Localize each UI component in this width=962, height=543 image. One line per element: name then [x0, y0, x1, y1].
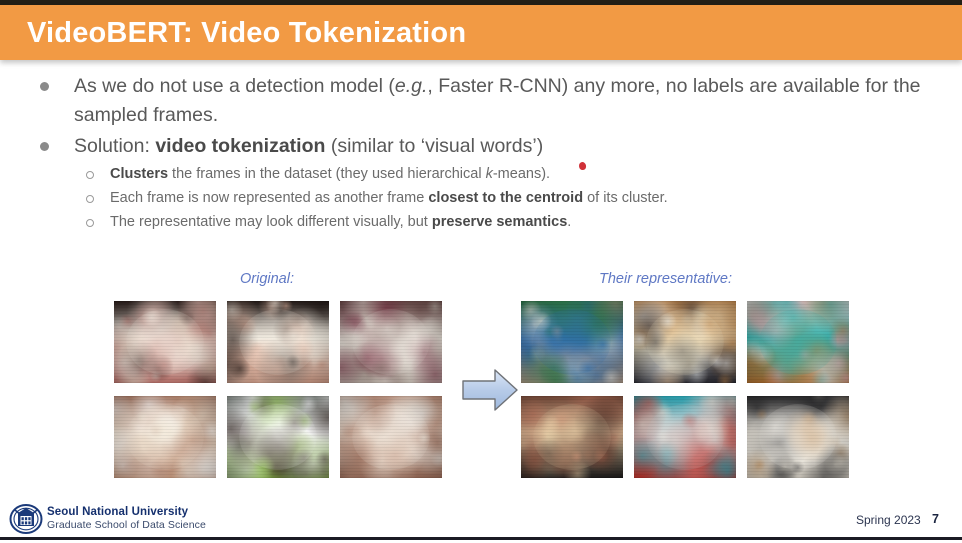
footer-divider [0, 537, 962, 540]
bullet-circle-icon [86, 195, 94, 203]
video-frame-thumbnail [747, 396, 849, 478]
university-name: Seoul National University [47, 506, 188, 518]
slide-title-bar: VideoBERT: Video Tokenization [0, 5, 962, 60]
video-frame-thumbnail [634, 301, 736, 383]
sub-bullet-item-3: The representative may look different vi… [0, 211, 962, 234]
frame-image [114, 301, 216, 383]
page-title: VideoBERT: Video Tokenization [27, 17, 466, 50]
frame-image [340, 301, 442, 383]
bullet-text: As we do not use a detection model (e.g.… [74, 72, 944, 130]
bullet-disc-icon [40, 142, 49, 151]
video-frame-thumbnail [340, 396, 442, 478]
video-frame-thumbnail [227, 396, 329, 478]
video-frame-thumbnail [227, 301, 329, 383]
frame-image [634, 301, 736, 383]
slide: VideoBERT: Video Tokenization As we do n… [0, 0, 962, 543]
frame-image [340, 396, 442, 478]
bullet-list: As we do not use a detection model (e.g.… [0, 72, 962, 235]
page-number: 7 [932, 512, 939, 526]
sub-bullet-item-1: Clusters the frames in the dataset (they… [0, 163, 962, 186]
representative-caption: Their representative: [599, 271, 732, 287]
video-frame-thumbnail [114, 396, 216, 478]
bullet-item-2: Solution: video tokenization (similar to… [0, 132, 962, 161]
original-caption: Original: [240, 271, 294, 287]
bullet-circle-icon [86, 219, 94, 227]
sub-bullet-text: The representative may look different vi… [110, 214, 571, 230]
bullet-disc-icon [40, 82, 49, 91]
frame-image [521, 396, 623, 478]
sub-bullet-text: Clusters the frames in the dataset (they… [110, 166, 550, 182]
snu-crest-icon [9, 504, 43, 534]
video-frame-thumbnail [747, 301, 849, 383]
sub-bullet-text: Each frame is now represented as another… [110, 190, 668, 206]
right-arrow-icon [461, 367, 519, 413]
department-name: Graduate School of Data Science [47, 519, 206, 531]
term-label: Spring 2023 [856, 513, 921, 527]
frame-image [634, 396, 736, 478]
bullet-circle-icon [86, 171, 94, 179]
sub-bullet-item-2: Each frame is now represented as another… [0, 187, 962, 210]
video-frame-thumbnail [114, 301, 216, 383]
original-frames-grid [114, 301, 442, 478]
frame-image [521, 301, 623, 383]
video-frame-thumbnail [521, 396, 623, 478]
video-frame-thumbnail [521, 301, 623, 383]
video-frame-thumbnail [634, 396, 736, 478]
bullet-text: Solution: video tokenization (similar to… [74, 132, 944, 161]
bullet-item-1: As we do not use a detection model (e.g.… [0, 72, 962, 130]
frame-image [747, 301, 849, 383]
frame-image [227, 301, 329, 383]
frame-image [114, 396, 216, 478]
frame-image [227, 396, 329, 478]
frame-image [747, 396, 849, 478]
video-frame-thumbnail [340, 301, 442, 383]
representative-frames-grid [521, 301, 849, 478]
